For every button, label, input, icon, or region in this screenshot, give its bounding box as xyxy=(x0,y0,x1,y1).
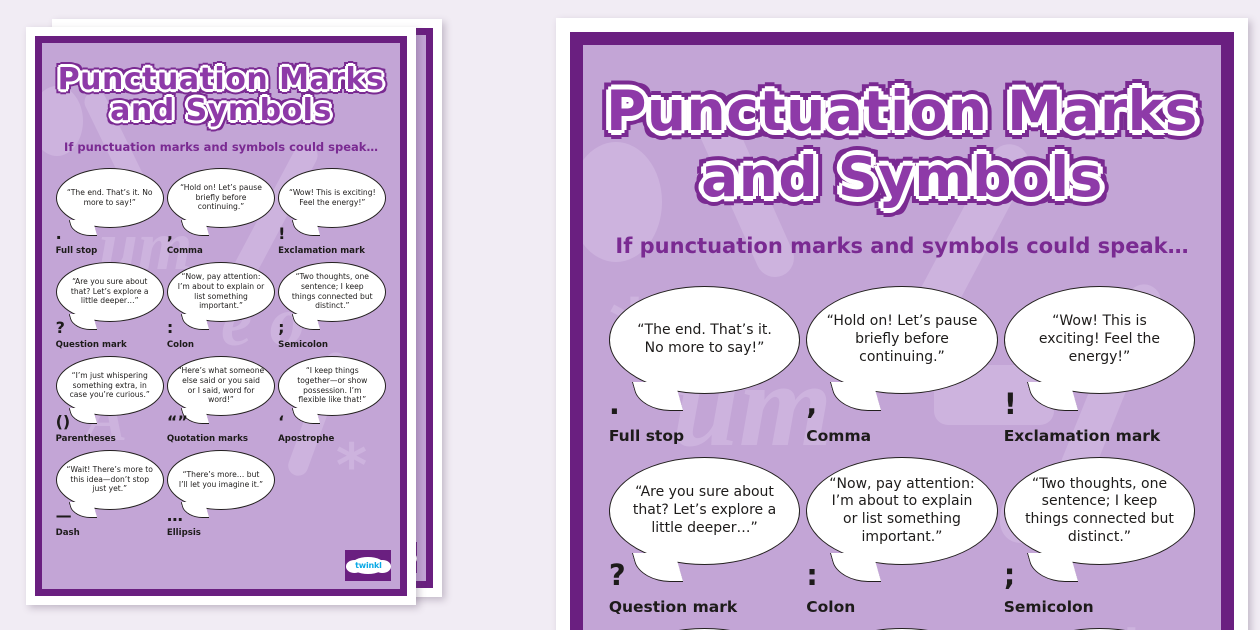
label-row: ‘Apostrophe xyxy=(278,416,386,444)
punctuation-name: Colon xyxy=(167,340,194,350)
speech-bubble: “I keep things together—or show possessi… xyxy=(278,356,386,416)
punctuation-name: Semicolon xyxy=(278,340,328,350)
punctuation-item-exclamation-mark[interactable]: “Wow! This is exciting! Feel the energy!… xyxy=(278,168,386,256)
dash-icon: — xyxy=(56,510,72,526)
speech-bubble: “The end. That’s it. No more to say!” xyxy=(56,168,164,228)
punctuation-name: Exclamation mark xyxy=(278,246,365,256)
label-row: :Colon xyxy=(806,565,997,616)
twinkl-wordmark: twinkl xyxy=(355,561,382,570)
poster-sheet-right-zoomed[interactable]: * * um e o A o Punctuation Marks and Sym… xyxy=(556,18,1248,630)
quotation-marks-icon: “” xyxy=(167,416,188,432)
punctuation-item-parentheses[interactable]: “I’m just whispering something extra, in… xyxy=(56,356,164,444)
title-line-1: Punctuation Marks xyxy=(42,64,401,96)
full-stop-icon: . xyxy=(609,394,620,423)
label-row: —Dash xyxy=(56,510,164,538)
punctuation-name: Colon xyxy=(806,598,855,616)
cloud-icon: twinkl xyxy=(351,557,385,574)
punctuation-name: Dash xyxy=(56,528,80,538)
title-line-2: and Symbols xyxy=(42,95,401,127)
label-row: ?Question mark xyxy=(56,322,164,350)
colon-icon: : xyxy=(167,322,173,338)
punctuation-name: Semicolon xyxy=(1004,598,1094,616)
speech-bubble: “Hold on! Let’s pause briefly before con… xyxy=(806,286,997,394)
speech-bubble: “There’s more… but I’ll let you imagine … xyxy=(167,450,275,510)
punctuation-item-question-mark[interactable]: “Are you sure about that? Let’s explore … xyxy=(609,457,800,616)
punctuation-item-dash[interactable]: “Wait! There’s more to this idea—don’t s… xyxy=(56,450,164,538)
punctuation-item-empty xyxy=(278,450,386,538)
label-row: ,Comma xyxy=(806,394,997,445)
comma-icon: , xyxy=(167,228,173,244)
title-line-2: and Symbols xyxy=(583,149,1221,207)
label-row: !Exclamation mark xyxy=(1004,394,1195,445)
punctuation-name: Quotation marks xyxy=(167,434,248,444)
comma-icon: , xyxy=(806,394,817,423)
label-row: .Full stop xyxy=(609,394,800,445)
speech-bubble: “Now, pay attention: I’m about to explai… xyxy=(806,457,997,565)
punctuation-item-comma[interactable]: “Hold on! Let’s pause briefly before con… xyxy=(806,286,997,445)
punctuation-item-semicolon[interactable]: “Two thoughts, one sentence; I keep thin… xyxy=(1004,457,1195,616)
punctuation-name: Comma xyxy=(167,246,203,256)
label-row: !Exclamation mark xyxy=(278,228,386,256)
exclamation-mark-icon: ! xyxy=(1004,394,1017,423)
punctuation-item-ellipsis[interactable]: “There’s more… but I’ll let you imagine … xyxy=(167,450,275,538)
punctuation-name: Question mark xyxy=(609,598,737,616)
punctuation-item-apostrophe[interactable]: “I keep things together—or show possessi… xyxy=(278,356,386,444)
ellipsis-icon: … xyxy=(167,510,183,526)
speech-bubble: “Two thoughts, one sentence; I keep thin… xyxy=(1004,457,1195,565)
parentheses-icon: () xyxy=(56,416,71,432)
punctuation-name: Full stop xyxy=(609,427,684,445)
punctuation-name: Comma xyxy=(806,427,871,445)
label-row: “”Quotation marks xyxy=(167,416,275,444)
poster-subtitle-right: If punctuation marks and symbols could s… xyxy=(583,234,1221,258)
speech-bubble: “I’m just whispering something extra, in… xyxy=(56,356,164,416)
punctuation-item-exclamation-mark[interactable]: “Wow! This is exciting! Feel the energy!… xyxy=(1004,286,1195,445)
punctuation-name: Question mark xyxy=(56,340,127,350)
poster-title-right: Punctuation Marks and Symbols xyxy=(583,83,1221,207)
punctuation-item-full-stop[interactable]: “The end. That’s it. No more to say!”.Fu… xyxy=(609,286,800,445)
twinkl-logo-left[interactable]: twinkl xyxy=(345,550,391,581)
label-row: ;Semicolon xyxy=(278,322,386,350)
speech-bubble: “Are you sure about that? Let’s explore … xyxy=(609,457,800,565)
label-row: :Colon xyxy=(167,322,275,350)
punctuation-item-full-stop[interactable]: “The end. That’s it. No more to say!”.Fu… xyxy=(56,168,164,256)
punctuation-item-colon[interactable]: “Now, pay attention: I’m about to explai… xyxy=(806,457,997,616)
speech-bubble: “Wait! There’s more to this idea—don’t s… xyxy=(56,450,164,510)
label-row: …Ellipsis xyxy=(167,510,275,538)
exclamation-mark-icon: ! xyxy=(278,228,285,244)
speech-bubble: “Hold on! Let’s pause briefly before con… xyxy=(167,168,275,228)
speech-bubble: “Here’s what someone else said or you sa… xyxy=(167,356,275,416)
question-mark-icon: ? xyxy=(56,322,65,338)
semicolon-icon: ; xyxy=(278,322,284,338)
speech-bubble: “Wow! This is exciting! Feel the energy!… xyxy=(278,168,386,228)
punctuation-name: Full stop xyxy=(56,246,98,256)
speech-bubble: “Now, pay attention: I’m about to explai… xyxy=(167,262,275,322)
speech-bubble: “Two thoughts, one sentence; I keep thin… xyxy=(278,262,386,322)
punctuation-item-comma[interactable]: “Hold on! Let’s pause briefly before con… xyxy=(167,168,275,256)
punctuation-name: Parentheses xyxy=(56,434,116,444)
speech-bubble: “Are you sure about that? Let’s explore … xyxy=(56,262,164,322)
punctuation-name: Exclamation mark xyxy=(1004,427,1161,445)
poster-subtitle-left: If punctuation marks and symbols could s… xyxy=(42,140,401,154)
punctuation-name: Apostrophe xyxy=(278,434,334,444)
punctuation-item-semicolon[interactable]: “Two thoughts, one sentence; I keep thin… xyxy=(278,262,386,350)
label-row: ?Question mark xyxy=(609,565,800,616)
apostrophe-icon: ‘ xyxy=(278,416,284,432)
punctuation-item-colon[interactable]: “Now, pay attention: I’m about to explai… xyxy=(167,262,275,350)
poster-sheet-left[interactable]: * * um e o A Punctuation Marks and Symbo… xyxy=(26,27,416,605)
question-mark-icon: ? xyxy=(609,565,626,594)
title-line-1: Punctuation Marks xyxy=(583,83,1221,141)
punctuation-item-quotation-marks[interactable]: “Here’s what someone else said or you sa… xyxy=(167,356,275,444)
label-row: ;Semicolon xyxy=(1004,565,1195,616)
poster-title-left: Punctuation Marks and Symbols xyxy=(42,64,401,127)
poster-inner-left: * * um e o A Punctuation Marks and Symbo… xyxy=(35,36,408,597)
punctuation-grid-right: “The end. That’s it. No more to say!”.Fu… xyxy=(609,286,1195,630)
punctuation-item-question-mark[interactable]: “Are you sure about that? Let’s explore … xyxy=(56,262,164,350)
semicolon-icon: ; xyxy=(1004,565,1016,594)
speech-bubble: “The end. That’s it. No more to say!” xyxy=(609,286,800,394)
label-row: .Full stop xyxy=(56,228,164,256)
colon-icon: : xyxy=(806,565,818,594)
speech-bubble: “Wow! This is exciting! Feel the energy!… xyxy=(1004,286,1195,394)
poster-inner-right: * * um e o A o Punctuation Marks and Sym… xyxy=(570,32,1234,630)
punctuation-name: Ellipsis xyxy=(167,528,201,538)
label-row: ,Comma xyxy=(167,228,275,256)
punctuation-grid-left: “The end. That’s it. No more to say!”.Fu… xyxy=(56,168,387,538)
label-row: ()Parentheses xyxy=(56,416,164,444)
full-stop-icon: . xyxy=(56,228,62,244)
